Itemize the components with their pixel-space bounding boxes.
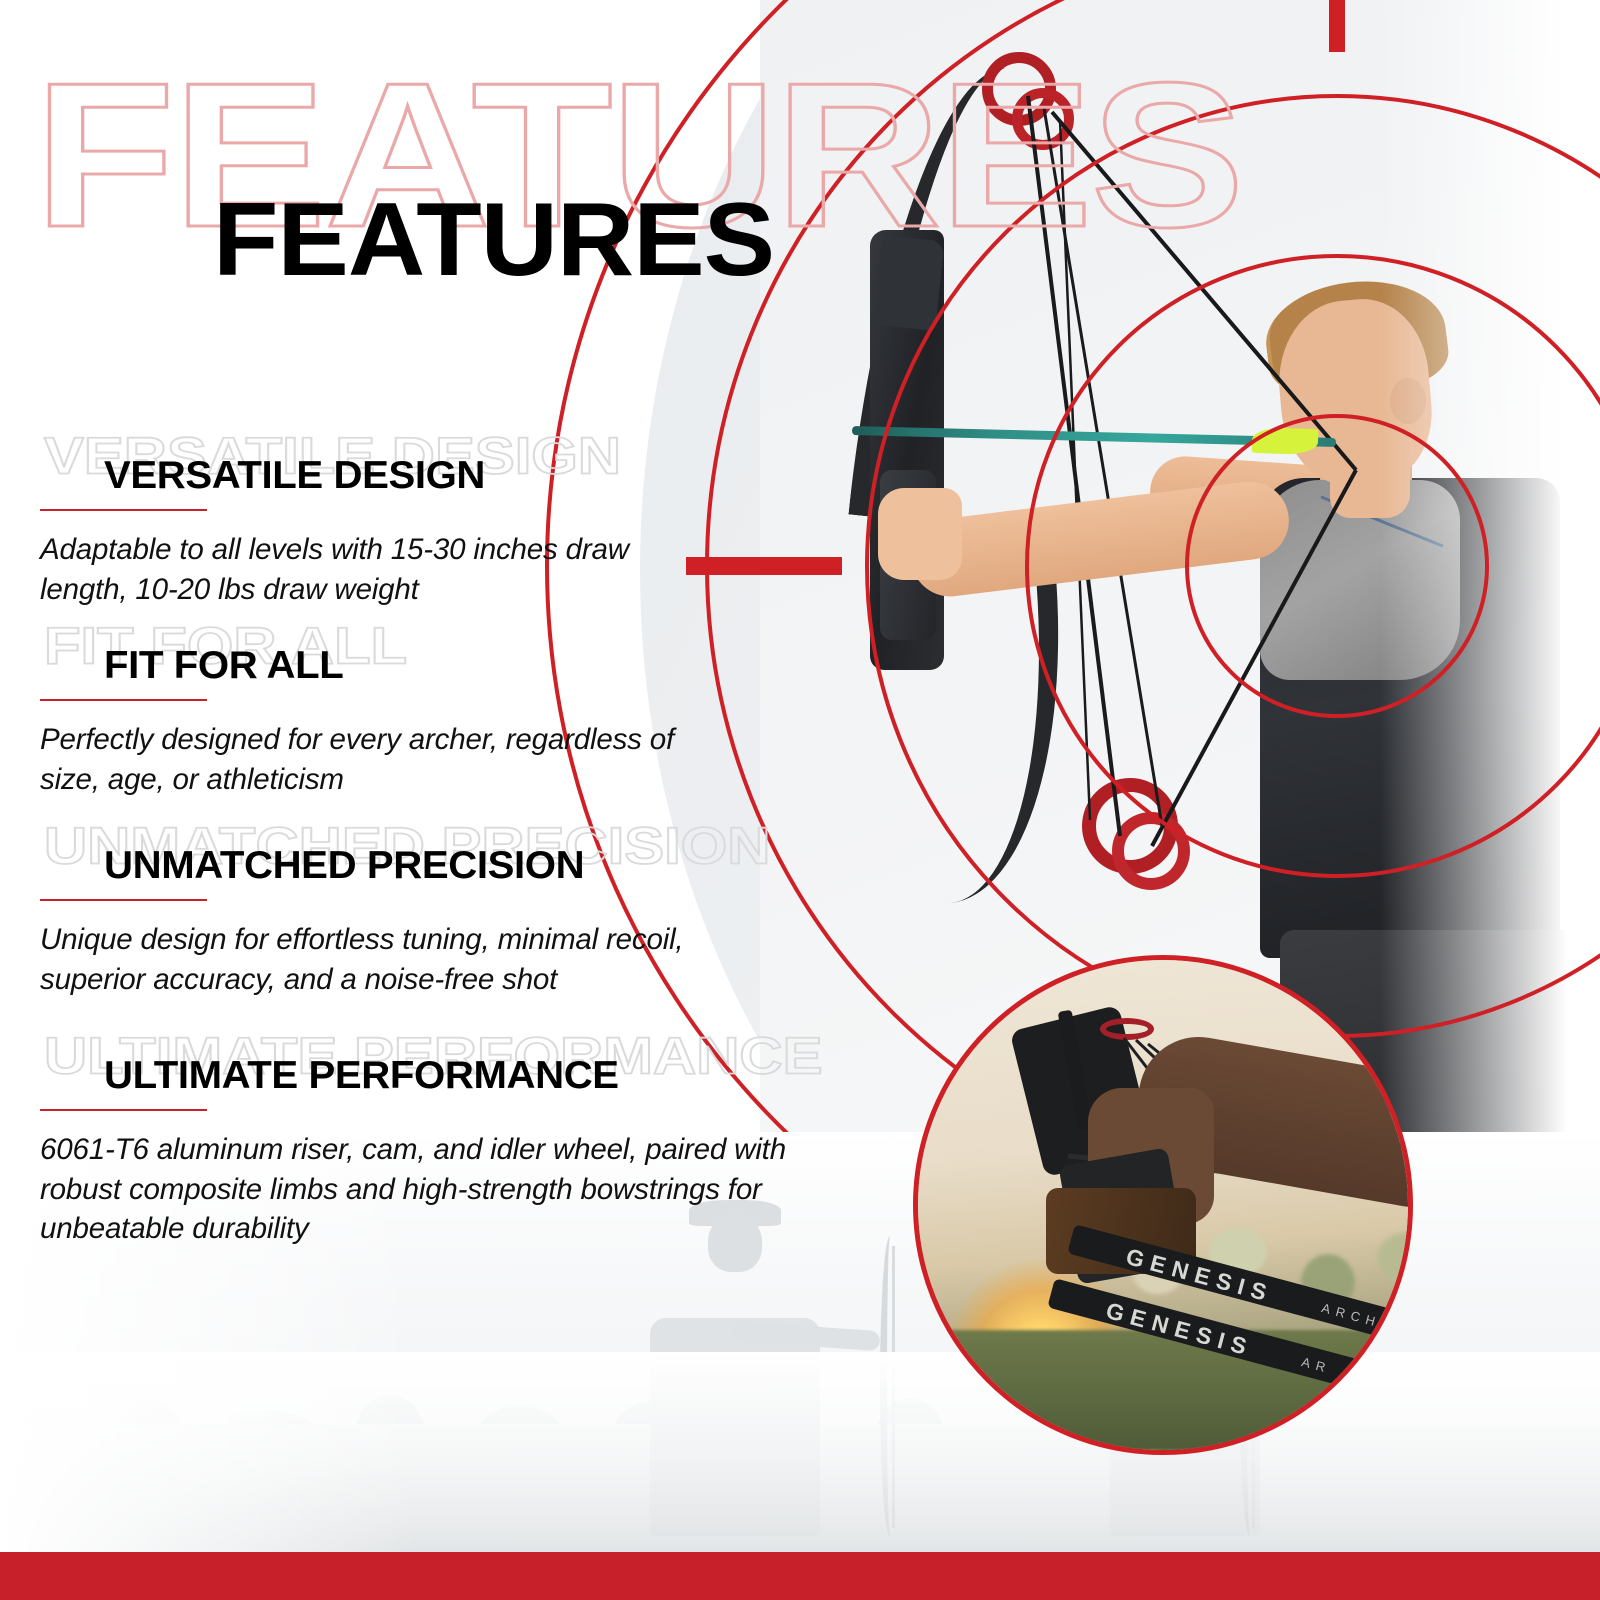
feature-heading: ULTIMATE PERFORMANCE <box>104 1056 619 1095</box>
feature-item-fit-for-all: FIT FOR ALL FIT FOR ALL Perfectly design… <box>0 620 900 820</box>
feature-heading: UNMATCHED PRECISION <box>104 846 584 885</box>
brand-sub-lower: AR <box>1300 1354 1333 1376</box>
feature-body: Unique design for effortless tuning, min… <box>40 920 774 999</box>
feature-rule <box>40 699 207 701</box>
feature-body: Perfectly designed for every archer, reg… <box>40 720 730 799</box>
feature-rule <box>40 1109 207 1111</box>
feature-rule <box>40 509 207 511</box>
feature-item-ultimate-performance: ULTIMATE PERFORMANCE ULTIMATE PERFORMANC… <box>0 1030 900 1270</box>
infographic-canvas: GENESIS ARCH GENESIS AR FEATURES FEATURE… <box>0 0 1600 1600</box>
bottom-accent-bar <box>0 1552 1600 1600</box>
feature-item-unmatched-precision: UNMATCHED PRECISION UNMATCHED PRECISION … <box>0 820 900 1030</box>
feature-rule <box>40 899 207 901</box>
bow-detail-inset-photo: GENESIS ARCH GENESIS AR <box>913 955 1413 1455</box>
arrow-vane <box>1252 427 1319 455</box>
feature-item-versatile-design: VERSATILE DESIGN VERSATILE DESIGN Adapta… <box>0 430 900 620</box>
target-tick-top <box>1329 0 1345 52</box>
feature-body: 6061-T6 aluminum riser, cam, and idler w… <box>40 1130 867 1249</box>
feature-list: VERSATILE DESIGN VERSATILE DESIGN Adapta… <box>0 430 900 1270</box>
feature-heading: FIT FOR ALL <box>104 646 343 685</box>
page-title: FEATURES <box>213 188 774 292</box>
feature-body: Adaptable to all levels with 15-30 inche… <box>40 530 651 609</box>
feature-heading: VERSATILE DESIGN <box>104 456 485 495</box>
